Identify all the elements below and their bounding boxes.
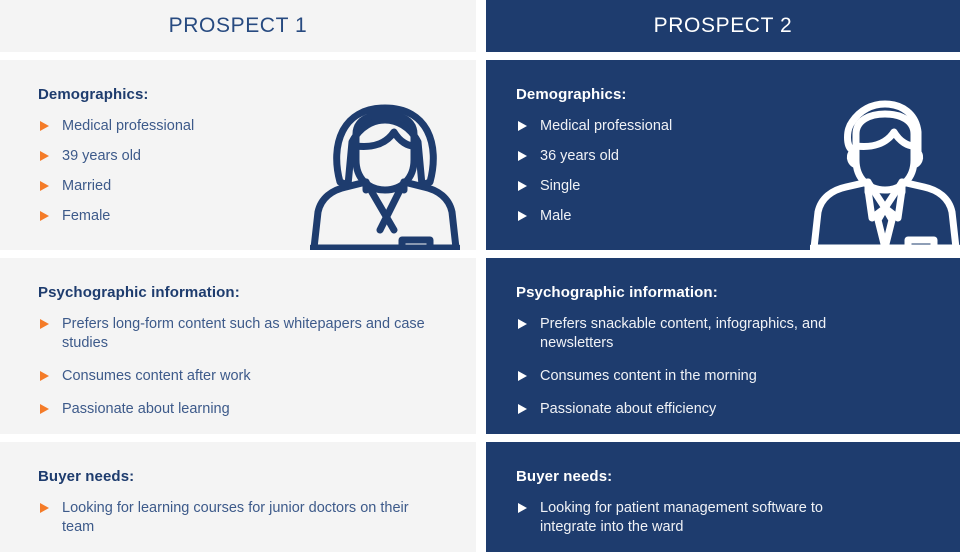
white-triangle-bullet-icon [518, 371, 527, 381]
prospect-1-psychographics-heading: Psychographic information: [38, 284, 476, 301]
orange-triangle-bullet-icon [40, 404, 49, 414]
prospect-2-psychographics-body: Psychographic information: Prefers snack… [486, 258, 960, 420]
orange-triangle-bullet-icon [40, 371, 49, 381]
list-item: Looking for patient management software … [516, 499, 870, 537]
list-item-label: Consumes content after work [62, 368, 251, 384]
prospect-1-buyer-needs-body: Buyer needs: Looking for learning course… [0, 442, 476, 537]
list-item: Single [516, 177, 840, 196]
prospect-1-column: PROSPECT 1 Demographics: Medical profess… [0, 0, 476, 552]
buyer-persona-comparison-board: PROSPECT 1 Demographics: Medical profess… [0, 0, 960, 552]
prospect-2-title: PROSPECT 2 [654, 14, 793, 38]
list-item: Medical professional [516, 117, 840, 136]
list-item: Prefers long-form content such as whitep… [38, 315, 442, 353]
list-item-label: Female [62, 208, 110, 224]
list-item-label: Looking for learning courses for junior … [62, 500, 409, 535]
prospect-1-psychographics-body: Psychographic information: Prefers long-… [0, 258, 476, 420]
white-triangle-bullet-icon [518, 211, 527, 221]
orange-triangle-bullet-icon [40, 211, 49, 221]
orange-triangle-bullet-icon [40, 319, 49, 329]
orange-triangle-bullet-icon [40, 181, 49, 191]
list-item: Medical professional [38, 117, 362, 136]
list-item: Male [516, 207, 840, 226]
list-item-label: Prefers long-form content such as whitep… [62, 316, 425, 351]
list-item-label: Married [62, 178, 111, 194]
prospect-1-buyer-needs-heading: Buyer needs: [38, 468, 476, 485]
prospect-2-demographics-body: Demographics: Medical professional 36 ye… [486, 60, 960, 227]
list-item-label: Passionate about learning [62, 401, 230, 417]
list-item: Married [38, 177, 362, 196]
prospect-2-header-panel: PROSPECT 2 [486, 0, 960, 52]
prospect-2-psychographics-heading: Psychographic information: [516, 284, 960, 301]
list-item-label: Passionate about efficiency [540, 401, 716, 417]
list-item-label: Looking for patient management software … [540, 500, 823, 535]
prospect-2-buyer-needs-heading: Buyer needs: [516, 468, 960, 485]
prospect-2-buyer-needs-list: Looking for patient management software … [516, 499, 960, 537]
list-item-label: Medical professional [540, 118, 672, 134]
prospect-2-psychographics-list: Prefers snackable content, infographics,… [516, 315, 960, 420]
prospect-1-psychographics-list: Prefers long-form content such as whitep… [38, 315, 476, 420]
prospect-1-demographics-list: Medical professional 39 years old Marrie… [38, 117, 476, 227]
list-item: Passionate about efficiency [516, 400, 870, 419]
orange-triangle-bullet-icon [40, 503, 49, 513]
prospect-2-demographics-list: Medical professional 36 years old Single… [516, 117, 960, 227]
list-item-label: 36 years old [540, 148, 619, 164]
white-triangle-bullet-icon [518, 404, 527, 414]
prospect-1-demographics-body: Demographics: Medical professional 39 ye… [0, 60, 476, 227]
list-item-label: Medical professional [62, 118, 194, 134]
prospect-1-buyer-needs-panel: Buyer needs: Looking for learning course… [0, 442, 476, 552]
list-item-label: 39 years old [62, 148, 141, 164]
prospect-1-title: PROSPECT 1 [169, 14, 308, 38]
list-item-label: Male [540, 208, 571, 224]
list-item: 36 years old [516, 147, 840, 166]
prospect-1-header-panel: PROSPECT 1 [0, 0, 476, 52]
white-triangle-bullet-icon [518, 151, 527, 161]
prospect-2-demographics-panel: Demographics: Medical professional 36 ye… [486, 60, 960, 250]
prospect-1-demographics-panel: Demographics: Medical professional 39 ye… [0, 60, 476, 250]
list-item: 39 years old [38, 147, 362, 166]
list-item-label: Single [540, 178, 580, 194]
prospect-1-demographics-heading: Demographics: [38, 86, 476, 103]
prospect-2-column: PROSPECT 2 Demographics: Medical profess… [486, 0, 960, 552]
prospect-2-psychographics-panel: Psychographic information: Prefers snack… [486, 258, 960, 434]
white-triangle-bullet-icon [518, 121, 527, 131]
orange-triangle-bullet-icon [40, 151, 49, 161]
list-item: Consumes content after work [38, 367, 442, 386]
prospect-2-demographics-heading: Demographics: [516, 86, 960, 103]
orange-triangle-bullet-icon [40, 121, 49, 131]
prospect-2-buyer-needs-panel: Buyer needs: Looking for patient managem… [486, 442, 960, 552]
prospect-2-buyer-needs-body: Buyer needs: Looking for patient managem… [486, 442, 960, 537]
list-item-label: Consumes content in the morning [540, 368, 757, 384]
prospect-1-buyer-needs-list: Looking for learning courses for junior … [38, 499, 476, 537]
white-triangle-bullet-icon [518, 181, 527, 191]
list-item: Looking for learning courses for junior … [38, 499, 442, 537]
white-triangle-bullet-icon [518, 319, 527, 329]
list-item: Prefers snackable content, infographics,… [516, 315, 870, 353]
list-item: Female [38, 207, 362, 226]
white-triangle-bullet-icon [518, 503, 527, 513]
list-item: Consumes content in the morning [516, 367, 870, 386]
list-item: Passionate about learning [38, 400, 442, 419]
prospect-1-psychographics-panel: Psychographic information: Prefers long-… [0, 258, 476, 434]
list-item-label: Prefers snackable content, infographics,… [540, 316, 826, 351]
